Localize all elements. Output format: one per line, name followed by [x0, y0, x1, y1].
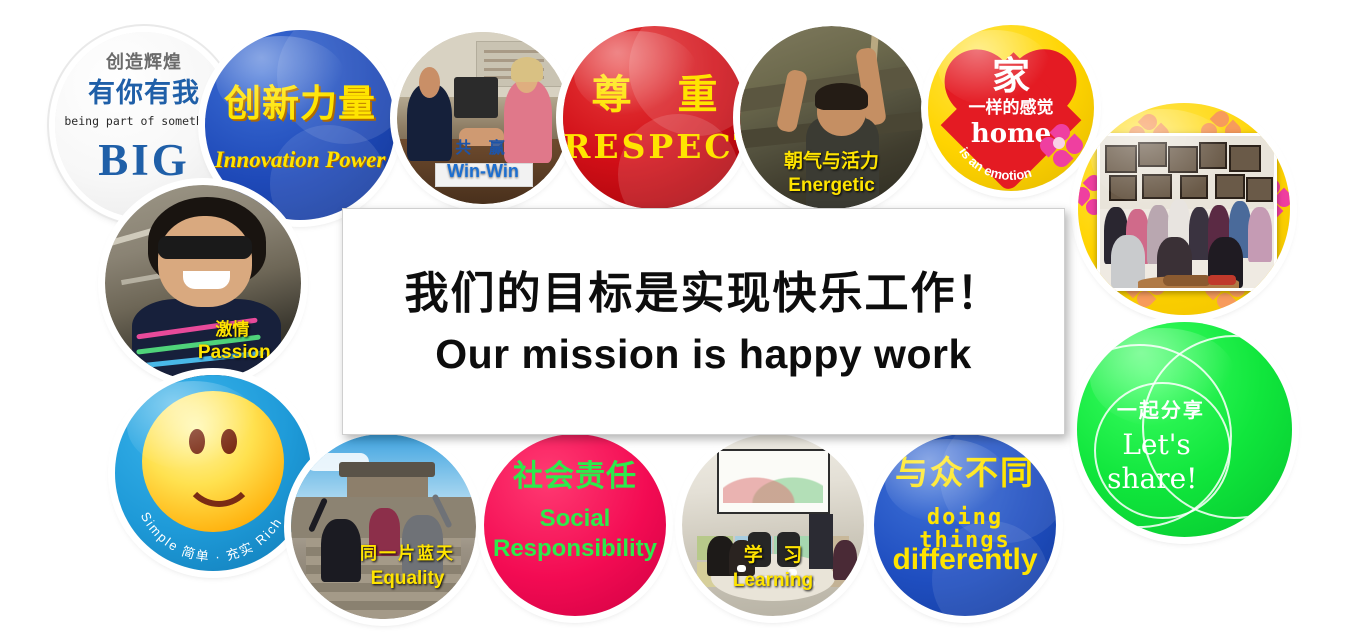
badge-winwin-line2: Win-Win: [397, 162, 569, 181]
badge-social-responsibility[interactable]: 社会责任 Social Responsibility: [484, 434, 666, 616]
badge-learning-line1: 学 习: [682, 546, 864, 566]
simple-arc-label: Simple 简单 · 充实 Rich: [138, 509, 285, 564]
badge-respect-line1: 尊 重: [563, 74, 746, 116]
badge-social-line3: Responsibility: [484, 536, 666, 561]
svg-text:Simple 简单 · 充实 Rich: Simple 简单 · 充实 Rich: [138, 509, 285, 564]
badge-share-line3: share!: [1077, 464, 1228, 493]
badge-big-line1: 创造辉煌: [55, 54, 233, 73]
badge-share-line1: 一起分享: [1086, 400, 1237, 421]
badge-social-line2: Social: [484, 506, 666, 531]
flower-icon: [1040, 124, 1084, 168]
badge-learning[interactable]: 学 习 Learning: [682, 434, 864, 616]
badge-learning-line2: Learning: [682, 571, 864, 591]
badge-passion-line2: Passion: [148, 343, 301, 363]
mission-banner: 我们的目标是实现快乐工作！ Our mission is happy work: [342, 208, 1065, 435]
badge-energetic-line1: 朝气与活力: [740, 152, 923, 172]
badge-simple-arc-text: Simple 简单 · 充实 Rich: [115, 375, 311, 571]
badge-differently-line1: 与众不同: [874, 456, 1056, 491]
badge-family-photo[interactable]: [1078, 103, 1290, 315]
badge-innovation-line2: Innovation Power: [205, 148, 395, 172]
badge-passion-line1: 激情: [148, 322, 301, 340]
home-arc-label: is an emotion: [956, 145, 1033, 183]
family-group-photo: [1097, 133, 1277, 292]
badge-respect[interactable]: 尊 重 RESPECT: [563, 26, 746, 209]
equality-photo: [291, 434, 476, 619]
badge-passion[interactable]: 激情 Passion: [105, 185, 301, 381]
mission-chinese: 我们的目标是实现快乐工作！: [343, 257, 1064, 321]
badge-innovation-line1: 创新力量: [205, 85, 395, 124]
badge-share-line2: Let's: [1081, 430, 1232, 459]
badge-winwin-line1: 共 赢: [397, 140, 569, 157]
badge-lets-share[interactable]: 一起分享 Let's share!: [1077, 322, 1292, 537]
badge-win-win[interactable]: 共 赢 Win-Win: [397, 32, 569, 204]
badge-doing-things-differently[interactable]: 与众不同 doing things differently: [874, 434, 1056, 616]
badge-differently-line3: differently: [874, 544, 1056, 576]
badge-simple-rich-smiley[interactable]: Simple 简单 · 充实 Rich: [115, 375, 311, 571]
badge-energetic-line2: Energetic: [740, 176, 923, 196]
poster-canvas: 创造辉煌 有你有我 being part of something BIG 创新…: [0, 0, 1366, 635]
badge-home-is-an-emotion[interactable]: 家 一样的感觉 home is an emotion: [928, 25, 1094, 191]
badge-respect-line2: RESPECT: [563, 130, 746, 165]
badge-energetic[interactable]: 朝气与活力 Energetic: [740, 26, 923, 209]
svg-text:is an emotion: is an emotion: [956, 145, 1033, 183]
badge-equality-line2: Equality: [332, 569, 476, 589]
mission-english: Our mission is happy work: [343, 331, 1064, 378]
badge-equality-line1: 同一片蓝天: [332, 546, 476, 564]
badge-equality[interactable]: 同一片蓝天 Equality: [291, 434, 476, 619]
badge-social-line1: 社会责任: [484, 461, 666, 493]
